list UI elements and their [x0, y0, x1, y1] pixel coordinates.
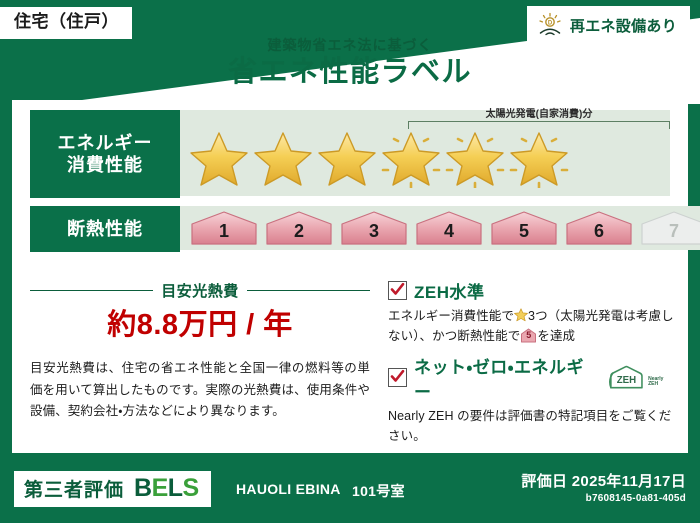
- star-filled: [188, 128, 250, 190]
- star-rating: [180, 128, 570, 190]
- star-filled-solar: [380, 128, 442, 190]
- sun-renewable-icon: D: [537, 12, 563, 38]
- evaluation-date: 評価日 2025年11月17日: [521, 473, 686, 491]
- bels-jp-label: 第三者評価: [24, 475, 124, 502]
- insulation-level-6: 6: [563, 210, 635, 246]
- title-main: 省エネ性能ラベル: [0, 55, 700, 90]
- insulation-level-value: 2: [294, 221, 304, 246]
- insulation-levels-panel: 1 2 3 4: [180, 206, 700, 250]
- star-filled-solar: [444, 128, 506, 190]
- evaluation-id: b7608145-0a81-405d: [521, 493, 686, 504]
- insulation-badge-value: 5: [520, 328, 537, 343]
- energy-stars-panel: 太陽光発電(自家消費)分: [180, 110, 670, 196]
- zeh-standard-body: エネルギー消費性能で3つ（太陽光発電は考慮しない）、かつ断熱性能で5を達成: [388, 306, 674, 347]
- cost-rule-left: [30, 290, 153, 291]
- insulation-level-5: 5: [488, 210, 560, 246]
- zeh-logo-icon: ZEH Nearly ZEH: [607, 365, 674, 390]
- cost-heading-text: 目安光熱費: [161, 280, 239, 301]
- svg-text:D: D: [548, 21, 553, 27]
- energy-label-line2: 消費性能: [67, 154, 143, 177]
- star-filled-solar: [508, 128, 570, 190]
- insulation-level-value: 5: [519, 221, 529, 246]
- zeh-column: ZEH水準 エネルギー消費性能で3つ（太陽光発電は考慮しない）、かつ断熱性能で5…: [370, 278, 674, 452]
- zeh-netzero-block: ネット・ゼロ・エネルギー ZEH Nearly ZEH Nearly ZEH の…: [388, 353, 674, 447]
- lower-section: 目安光熱費 約8.8万円 / 年 目安光熱費は、住宅の省エネ性能と全国一律の燃料…: [30, 278, 674, 452]
- energy-performance-label: エネルギー 消費性能: [30, 110, 180, 198]
- insulation-level-7: 7: [638, 210, 700, 246]
- bels-certification-box: 第三者評価 BELS: [14, 471, 211, 507]
- title-subtitle: 建築物省エネ法に基づく: [0, 38, 700, 53]
- checkbox-checked-icon: [388, 368, 407, 387]
- property-name: HAUOLI EBINA: [236, 481, 341, 497]
- star-filled: [316, 128, 378, 190]
- insulation-level-2: 2: [263, 210, 335, 246]
- zeh-standard-heading: ZEH水準: [388, 278, 674, 303]
- zeh-standard-block: ZEH水準 エネルギー消費性能で3つ（太陽光発電は考慮しない）、かつ断熱性能で5…: [388, 278, 674, 347]
- evaluation-date-label: 評価日: [521, 473, 567, 490]
- cost-note: 目安光熱費は、住宅の省エネ性能と全国一律の燃料等の単価を用いて算出したものです。…: [30, 358, 370, 423]
- cost-rule-right: [247, 290, 370, 291]
- zeh-netzero-body: Nearly ZEH の要件は評価書の特記項目をご覧ください。: [388, 406, 674, 447]
- energy-performance-row: エネルギー 消費性能 太陽光発電(自家消費)分: [30, 110, 670, 198]
- zeh-logo-sub: Nearly ZEH: [648, 377, 674, 391]
- zeh-star-count: 3つ: [528, 309, 548, 323]
- insulation-level-3: 3: [338, 210, 410, 246]
- solar-annotation: 太陽光発電(自家消費)分: [408, 109, 670, 129]
- insulation-level-value: 7: [669, 221, 679, 246]
- energy-performance-label: 住宅（住戸） D 再エネ設備あり 建築物省エネ法に基づく 省エネ性能ラベル: [0, 0, 700, 523]
- insulation-level-value: 6: [594, 221, 604, 246]
- zeh-body-part1: エネルギー消費性能で: [388, 309, 514, 323]
- footer-bar: 第三者評価 BELS HAUOLI EBINA 101号室 評価日 2025年1…: [0, 461, 700, 523]
- label-card: エネルギー 消費性能 太陽光発電(自家消費)分: [12, 100, 688, 453]
- insulation-level-value: 4: [444, 221, 454, 246]
- renewable-badge-label: 再エネ設備あり: [570, 15, 677, 36]
- zeh-netzero-title: ネット・ゼロ・エネルギー: [414, 353, 596, 403]
- cost-column: 目安光熱費 約8.8万円 / 年 目安光熱費は、住宅の省エネ性能と全国一律の燃料…: [30, 278, 370, 452]
- insulation-level-scale: 1 2 3 4: [180, 210, 700, 246]
- performance-section: エネルギー 消費性能 太陽光発電(自家消費)分: [30, 110, 670, 260]
- solar-annotation-label: 太陽光発電(自家消費)分: [408, 109, 670, 120]
- cost-heading: 目安光熱費: [30, 280, 370, 301]
- star-filled: [252, 128, 314, 190]
- room-number: 101号室: [352, 481, 405, 501]
- insulation-level-value: 3: [369, 221, 379, 246]
- insulation-label-text: 断熱性能: [67, 218, 143, 241]
- insulation-level-1: 1: [188, 210, 260, 246]
- insulation-level-4: 4: [413, 210, 485, 246]
- bels-logo: BELS: [134, 476, 199, 501]
- zeh-body-part3: を達成: [537, 329, 575, 343]
- star-inline-icon: [514, 308, 528, 322]
- evaluation-info: 評価日 2025年11月17日 b7608145-0a81-405d: [521, 473, 686, 504]
- energy-label-line1: エネルギー: [58, 132, 153, 155]
- zeh-standard-title: ZEH水準: [414, 278, 485, 303]
- insulation-performance-label: 断熱性能: [30, 206, 180, 252]
- housing-type-chip: 住宅（住戸）: [0, 7, 132, 39]
- insulation-badge-inline-icon: 5: [520, 328, 537, 343]
- zeh-netzero-heading: ネット・ゼロ・エネルギー ZEH Nearly ZEH: [388, 353, 674, 403]
- checkbox-checked-icon: [388, 281, 407, 300]
- svg-text:ZEH: ZEH: [617, 375, 636, 386]
- evaluation-date-value: 2025年11月17日: [572, 473, 686, 490]
- insulation-level-value: 1: [219, 221, 229, 246]
- cost-value: 約8.8万円 / 年: [30, 309, 370, 342]
- title-block: 建築物省エネ法に基づく 省エネ性能ラベル: [0, 38, 700, 90]
- insulation-performance-row: 断熱性能 1 2 3: [30, 206, 670, 252]
